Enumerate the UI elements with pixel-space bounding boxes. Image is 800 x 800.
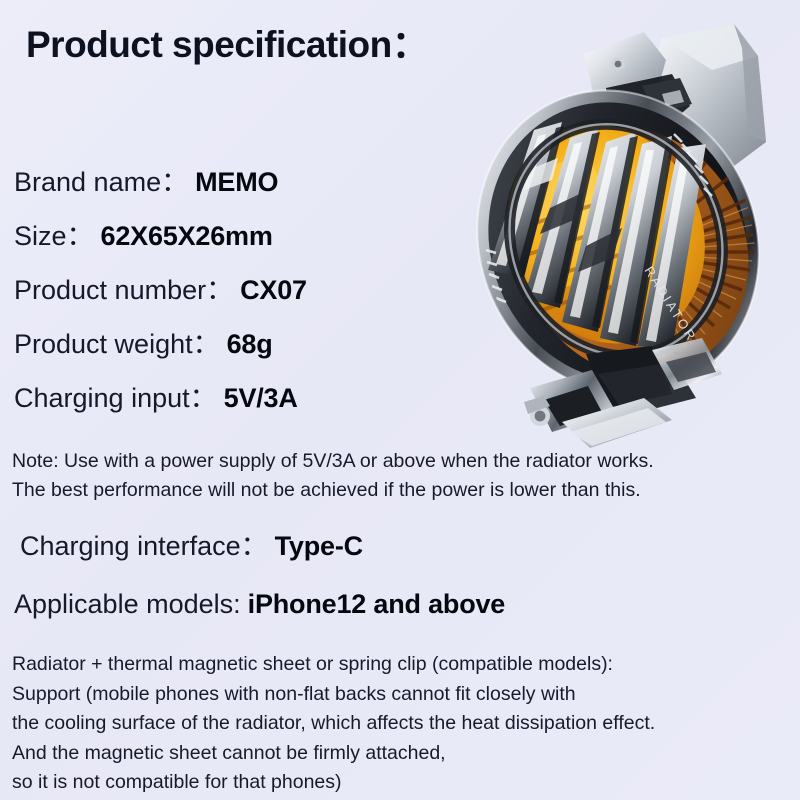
page-title: Product specification：: [26, 14, 428, 68]
footer-line: Support (mobile phones with non-flat bac…: [12, 680, 800, 710]
spec-label: Product weight：: [14, 322, 220, 361]
spec-value: 68g: [227, 329, 273, 360]
footer-line: the cooling surface of the radiator, whi…: [12, 709, 800, 739]
spec-row-brand-name: Brand name： MEMO: [0, 160, 470, 214]
footer-line: Radiator + thermal magnetic sheet or spr…: [12, 650, 800, 680]
power-supply-note: Note: Use with a power supply of 5V/3A o…: [12, 447, 800, 505]
ring-marking-band: RADIATOR: [473, 90, 759, 390]
spec-value: CX07: [240, 275, 307, 306]
compatibility-notes: Radiator + thermal magnetic sheet or spr…: [12, 650, 800, 798]
bottom-clip-foot: [524, 338, 722, 448]
product-image-radiator: RADIATOR: [466, 2, 800, 464]
glowing-core: [486, 102, 746, 382]
spec-label: Size：: [14, 214, 94, 253]
footer-line: so it is not compatible for that phones): [12, 768, 800, 798]
spec-value: Type-C: [275, 531, 363, 562]
ring-marking-text: RADIATOR: [641, 264, 699, 345]
spec-row-product-weight: Product weight： 68g: [0, 322, 470, 376]
spec-row-product-number: Product number： CX07: [0, 268, 470, 322]
spec-label: Product number：: [14, 268, 233, 307]
spec-list-primary: Brand name： MEMO Size： 62X65X26mm Produc…: [0, 160, 470, 430]
note-line: Note: Use with a power supply of 5V/3A o…: [12, 447, 800, 476]
spec-value: 5V/3A: [224, 383, 298, 414]
spec-row-size: Size： 62X65X26mm: [0, 214, 470, 268]
spec-row-charging-interface: Charging interface： Type-C: [0, 524, 640, 589]
spec-label: Applicable models:: [14, 589, 241, 620]
ring-tick-marks: [486, 134, 712, 302]
spec-value: iPhone12 and above: [248, 589, 505, 620]
spec-value: 62X65X26mm: [101, 221, 273, 252]
spec-label: Brand name：: [14, 160, 188, 199]
copper-fins: [480, 91, 787, 412]
spec-label: Charging input：: [14, 376, 217, 415]
top-clamp-arm: [584, 24, 766, 178]
cage-blades: [488, 122, 706, 350]
spec-list-secondary: Charging interface： Type-C Applicable mo…: [0, 524, 640, 654]
spec-row-applicable-models: Applicable models: iPhone12 and above: [0, 589, 640, 654]
footer-line: And the magnetic sheet cannot be firmly …: [12, 739, 800, 769]
spec-row-charging-input: Charging input： 5V/3A: [0, 376, 470, 430]
product-specification-page: Product specification：: [0, 0, 800, 800]
spec-value: MEMO: [195, 167, 278, 198]
spec-label: Charging interface：: [20, 524, 268, 563]
radiator-disc: RADIATOR: [466, 45, 800, 439]
note-line: The best performance will not be achieve…: [12, 476, 800, 505]
